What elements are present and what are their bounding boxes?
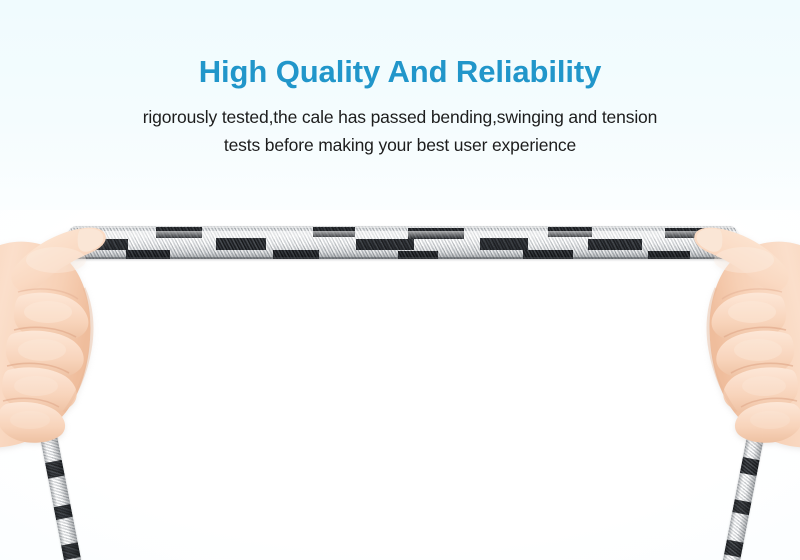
heading-block: High Quality And Reliability rigorously … <box>0 54 800 160</box>
page-title: High Quality And Reliability <box>0 54 800 91</box>
subtitle-line-2: tests before making your best user exper… <box>80 131 720 160</box>
subtitle-line-1: rigorously tested,the cale has passed be… <box>80 103 720 132</box>
left-hand <box>0 198 134 468</box>
page-subtitle: rigorously tested,the cale has passed be… <box>80 103 720 161</box>
right-hand <box>666 198 800 468</box>
promo-banner: High Quality And Reliability rigorously … <box>0 0 800 560</box>
product-photo <box>0 190 800 560</box>
cable-taut-span <box>68 226 738 259</box>
